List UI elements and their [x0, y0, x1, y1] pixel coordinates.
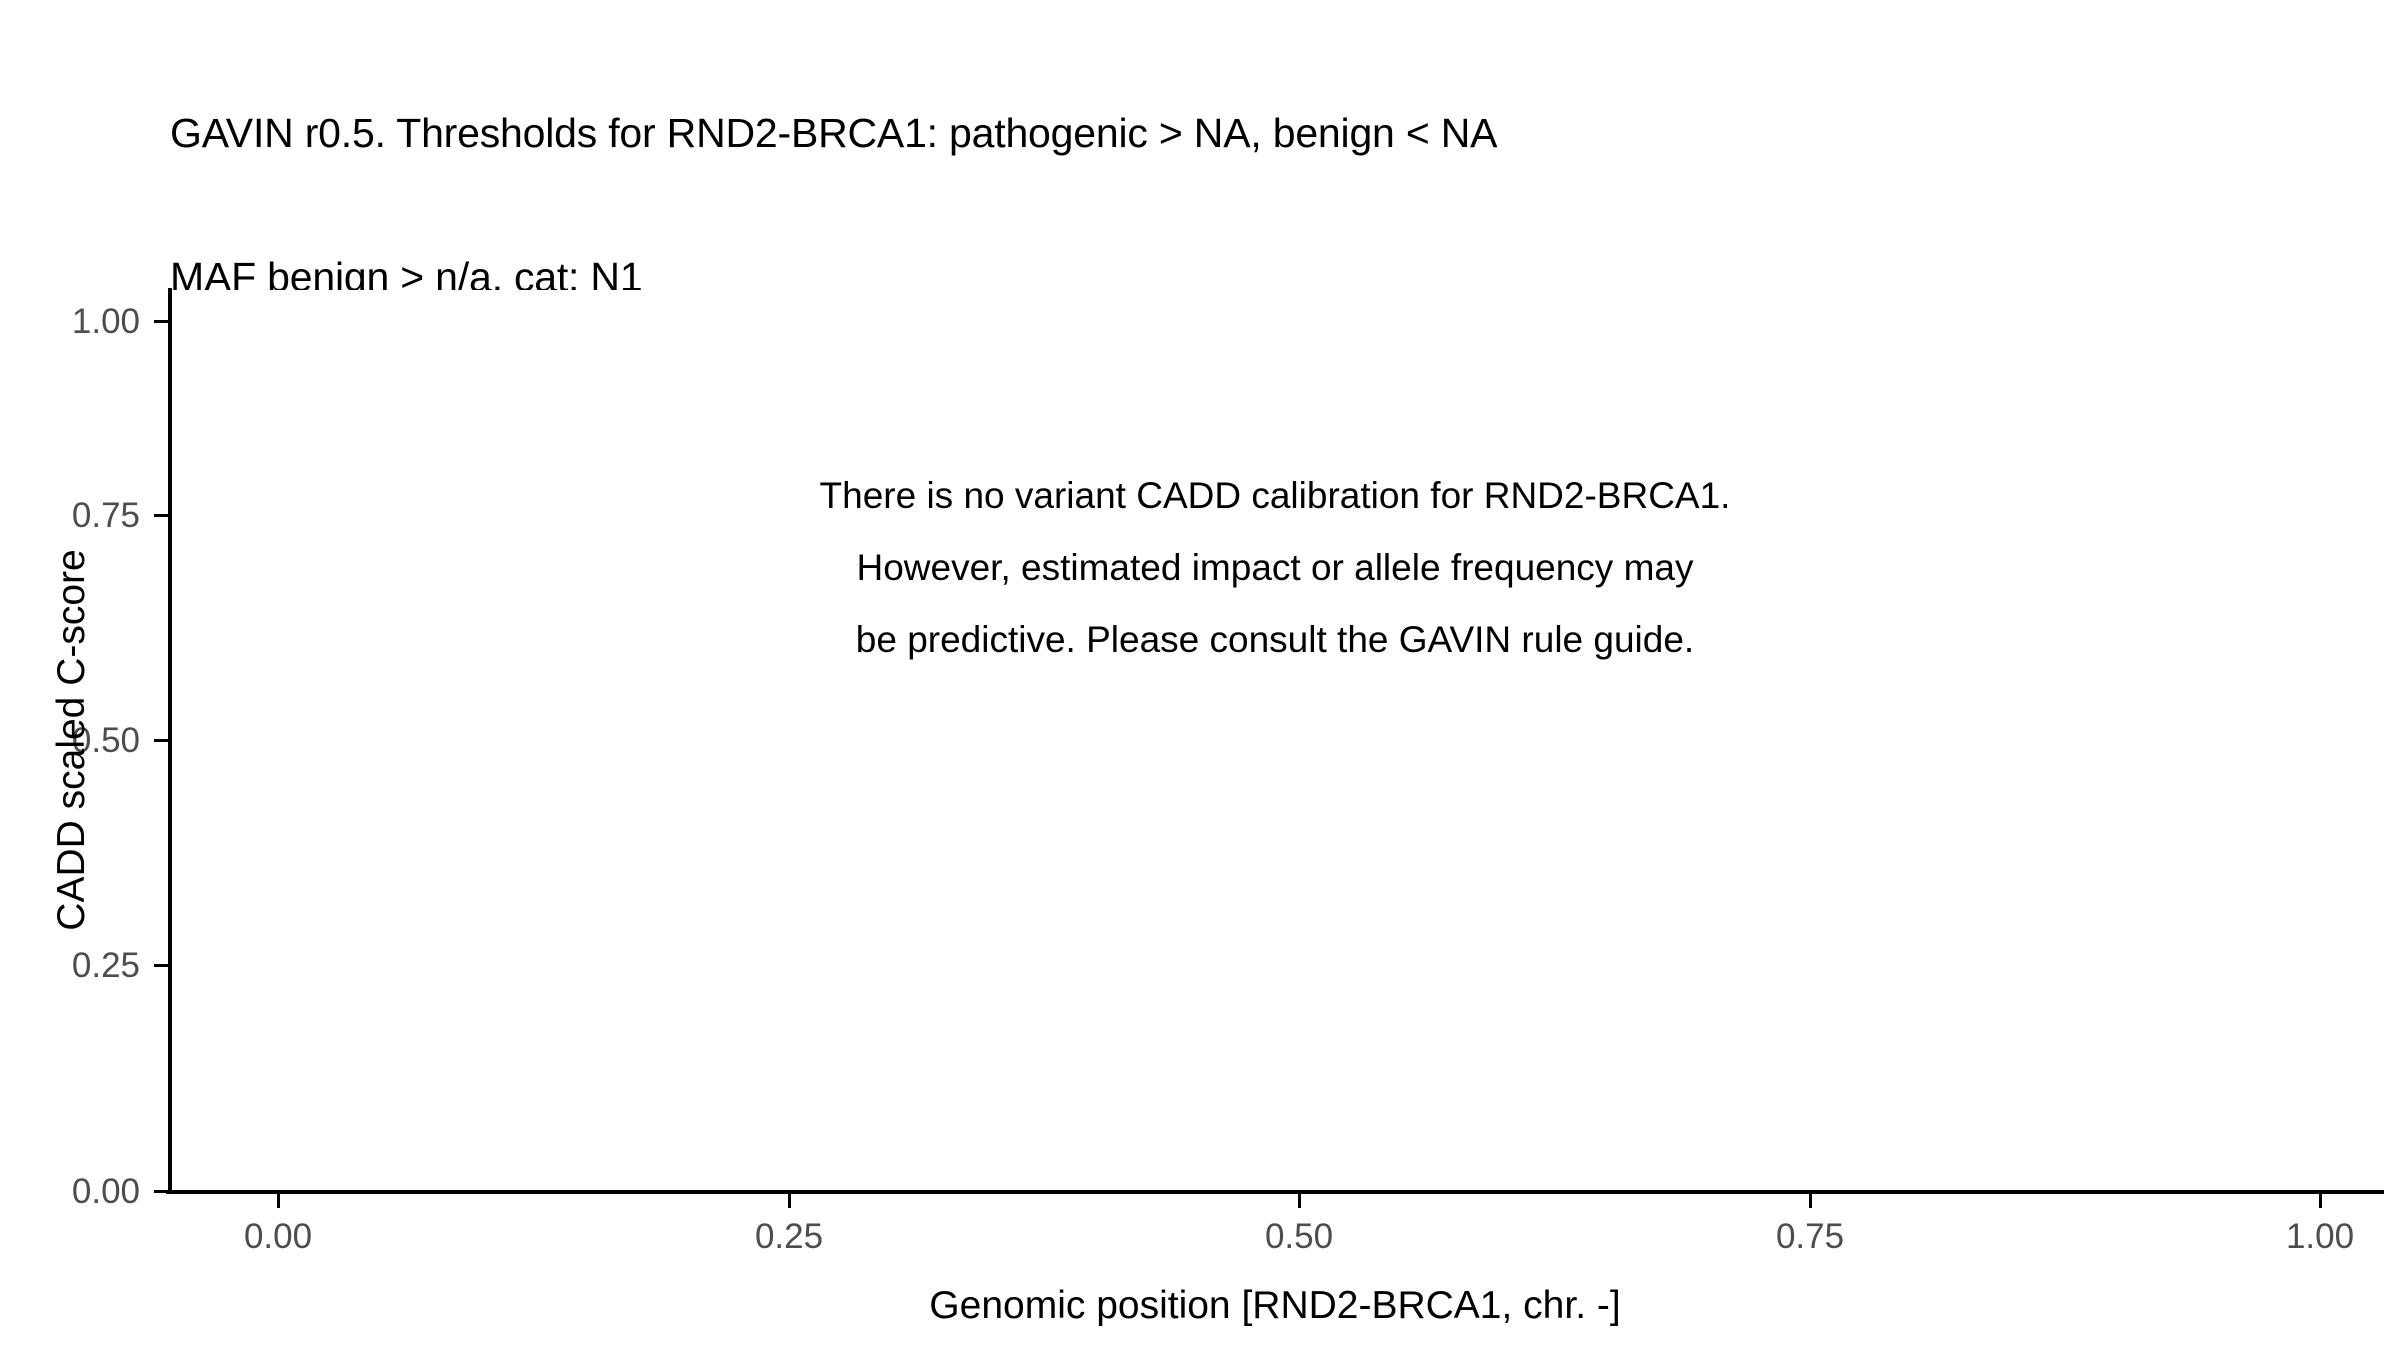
x-tick-mark — [788, 1194, 791, 1208]
y-tick-mark — [154, 1190, 168, 1193]
x-axis-line — [166, 1190, 2384, 1194]
plot-figure: GAVIN r0.5. Thresholds for RND2-BRCA1: p… — [0, 0, 2400, 1350]
y-tick-mark — [154, 739, 168, 742]
x-axis-title: Genomic position [RND2-BRCA1, chr. -] — [168, 1283, 2382, 1329]
x-tick-label: 0.50 — [1179, 1216, 1419, 1258]
x-tick-label: 0.00 — [158, 1216, 398, 1258]
plot-title-line-1: GAVIN r0.5. Thresholds for RND2-BRCA1: p… — [170, 110, 2270, 158]
x-tick-label: 0.75 — [1690, 1216, 1930, 1258]
empty-state-message: There is no variant CADD calibration for… — [820, 460, 1731, 676]
y-tick-mark — [154, 514, 168, 517]
x-tick-mark — [1809, 1194, 1812, 1208]
x-tick-label: 1.00 — [2200, 1216, 2400, 1258]
x-tick-mark — [277, 1194, 280, 1208]
plot-panel: There is no variant CADD calibration for… — [168, 290, 2382, 1190]
y-axis-line — [168, 288, 172, 1194]
empty-state-line-3: be predictive. Please consult the GAVIN … — [820, 604, 1731, 676]
y-axis-title: CADD scaled C-score — [48, 290, 96, 1190]
x-tick-mark — [2319, 1194, 2322, 1208]
y-tick-mark — [154, 964, 168, 967]
empty-state-line-2: However, estimated impact or allele freq… — [820, 532, 1731, 604]
empty-state-line-1: There is no variant CADD calibration for… — [820, 460, 1731, 532]
y-tick-mark — [154, 320, 168, 323]
x-tick-mark — [1298, 1194, 1301, 1208]
x-tick-label: 0.25 — [669, 1216, 909, 1258]
